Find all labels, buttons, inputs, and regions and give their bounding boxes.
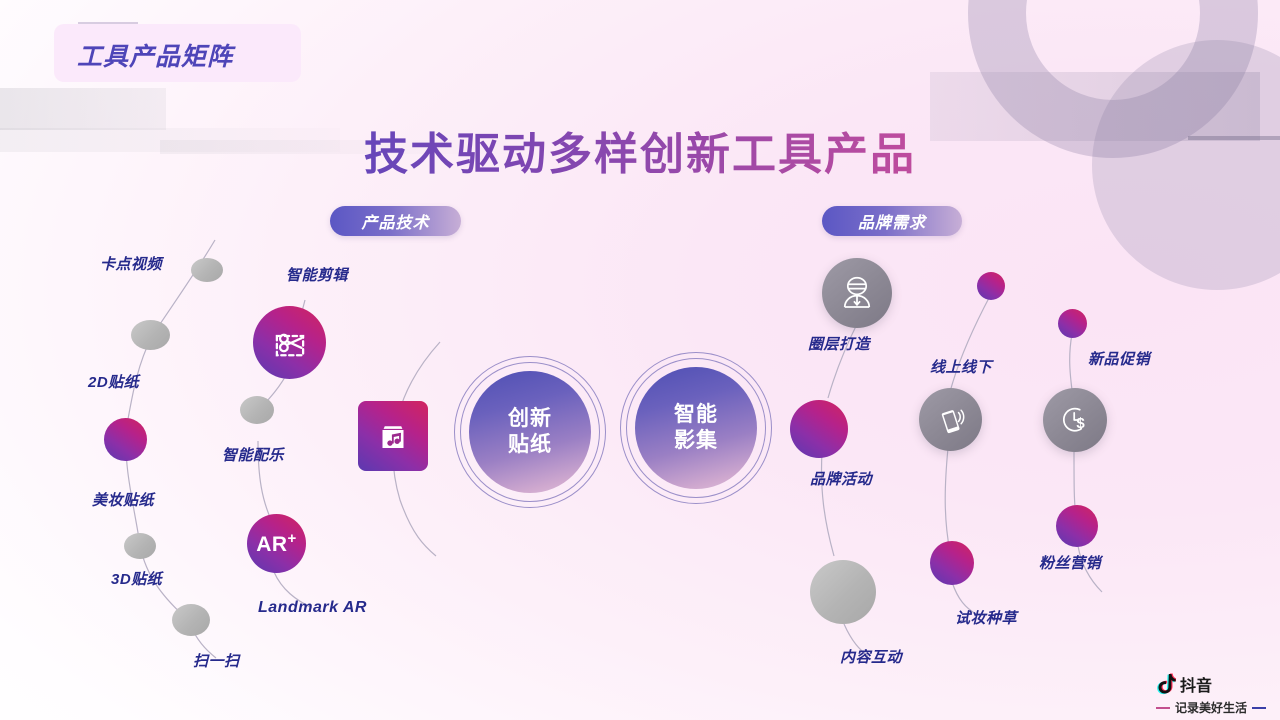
hub-line-1: 智能 <box>674 402 718 428</box>
label-makeup-sticker: 美妆贴纸 <box>92 489 154 510</box>
node-dot-scan[interactable] <box>172 604 210 636</box>
label-circle-building: 圈层打造 <box>808 333 870 354</box>
node-dot-2d[interactable] <box>131 320 170 350</box>
node-dot-online-offline-top[interactable] <box>977 272 1005 300</box>
label-new-product-promo: 新品促销 <box>1088 348 1150 369</box>
label-2d-sticker: 2D贴纸 <box>88 371 139 392</box>
label-online-offline: 线上线下 <box>930 356 992 377</box>
node-dot-makeup-trial[interactable] <box>930 541 974 585</box>
slide-canvas: 工具产品矩阵 技术驱动多样创新工具产品 产品技术 品牌需求 <box>0 0 1280 720</box>
hub-innovative-sticker[interactable]: 创新 贴纸 <box>454 356 606 508</box>
label-katian-video: 卡点视频 <box>100 253 162 274</box>
node-circle-building[interactable] <box>822 258 892 328</box>
node-new-product-promo[interactable]: $ <box>1043 388 1107 452</box>
node-dot-bgm[interactable] <box>240 396 274 424</box>
node-music-album[interactable] <box>358 401 428 471</box>
brand-tagline: 记录美好生活 <box>1175 699 1247 716</box>
label-brand-activity: 品牌活动 <box>810 468 872 489</box>
phone-signal-icon <box>933 402 969 438</box>
node-dot-content-interaction[interactable] <box>810 560 876 624</box>
label-content-interaction: 内容互动 <box>840 646 902 667</box>
brand-logo: 抖音 记录美好生活 <box>1156 672 1266 716</box>
label-scan: 扫一扫 <box>193 650 240 671</box>
node-dot-new-product-top[interactable] <box>1058 309 1087 338</box>
label-smart-edit: 智能剪辑 <box>286 264 348 285</box>
label-landmark-ar: Landmark AR <box>258 599 367 617</box>
label-3d-sticker: 3D贴纸 <box>111 568 162 589</box>
label-smart-bgm: 智能配乐 <box>222 444 284 465</box>
node-dot-3d[interactable] <box>124 533 156 559</box>
tagline-dash-left <box>1156 707 1170 709</box>
hub-core: 创新 贴纸 <box>469 371 591 493</box>
node-dot-brand-activity[interactable] <box>790 400 848 458</box>
music-album-icon <box>375 418 411 454</box>
brand-name: 抖音 <box>1180 672 1212 696</box>
node-dot-makeup[interactable] <box>104 418 147 461</box>
node-online-offline[interactable] <box>919 388 982 451</box>
hub-line-2: 影集 <box>674 428 718 454</box>
node-landmark-ar[interactable]: AR+ <box>247 514 306 573</box>
svg-text:$: $ <box>1076 415 1085 432</box>
node-dot-fan-marketing[interactable] <box>1056 505 1098 547</box>
hub-core: 智能 影集 <box>635 367 757 489</box>
brand-tagline-row: 记录美好生活 <box>1156 699 1266 716</box>
douyin-note-icon <box>1156 673 1176 695</box>
person-vr-icon <box>836 272 878 314</box>
brand-logo-row: 抖音 <box>1156 672 1266 696</box>
clock-dollar-icon: $ <box>1056 401 1094 439</box>
tagline-dash-right <box>1252 707 1266 709</box>
hub-smart-album[interactable]: 智能 影集 <box>620 352 772 504</box>
node-smart-edit[interactable] <box>253 306 326 379</box>
ar-plus-icon: AR+ <box>256 530 297 557</box>
hub-line-1: 创新 <box>508 406 552 432</box>
node-dot-katian[interactable] <box>191 258 223 282</box>
label-fan-marketing: 粉丝营销 <box>1039 552 1101 573</box>
label-makeup-trial: 试妆种草 <box>955 607 1017 628</box>
scissors-icon <box>269 322 311 364</box>
hub-line-2: 贴纸 <box>508 432 552 458</box>
